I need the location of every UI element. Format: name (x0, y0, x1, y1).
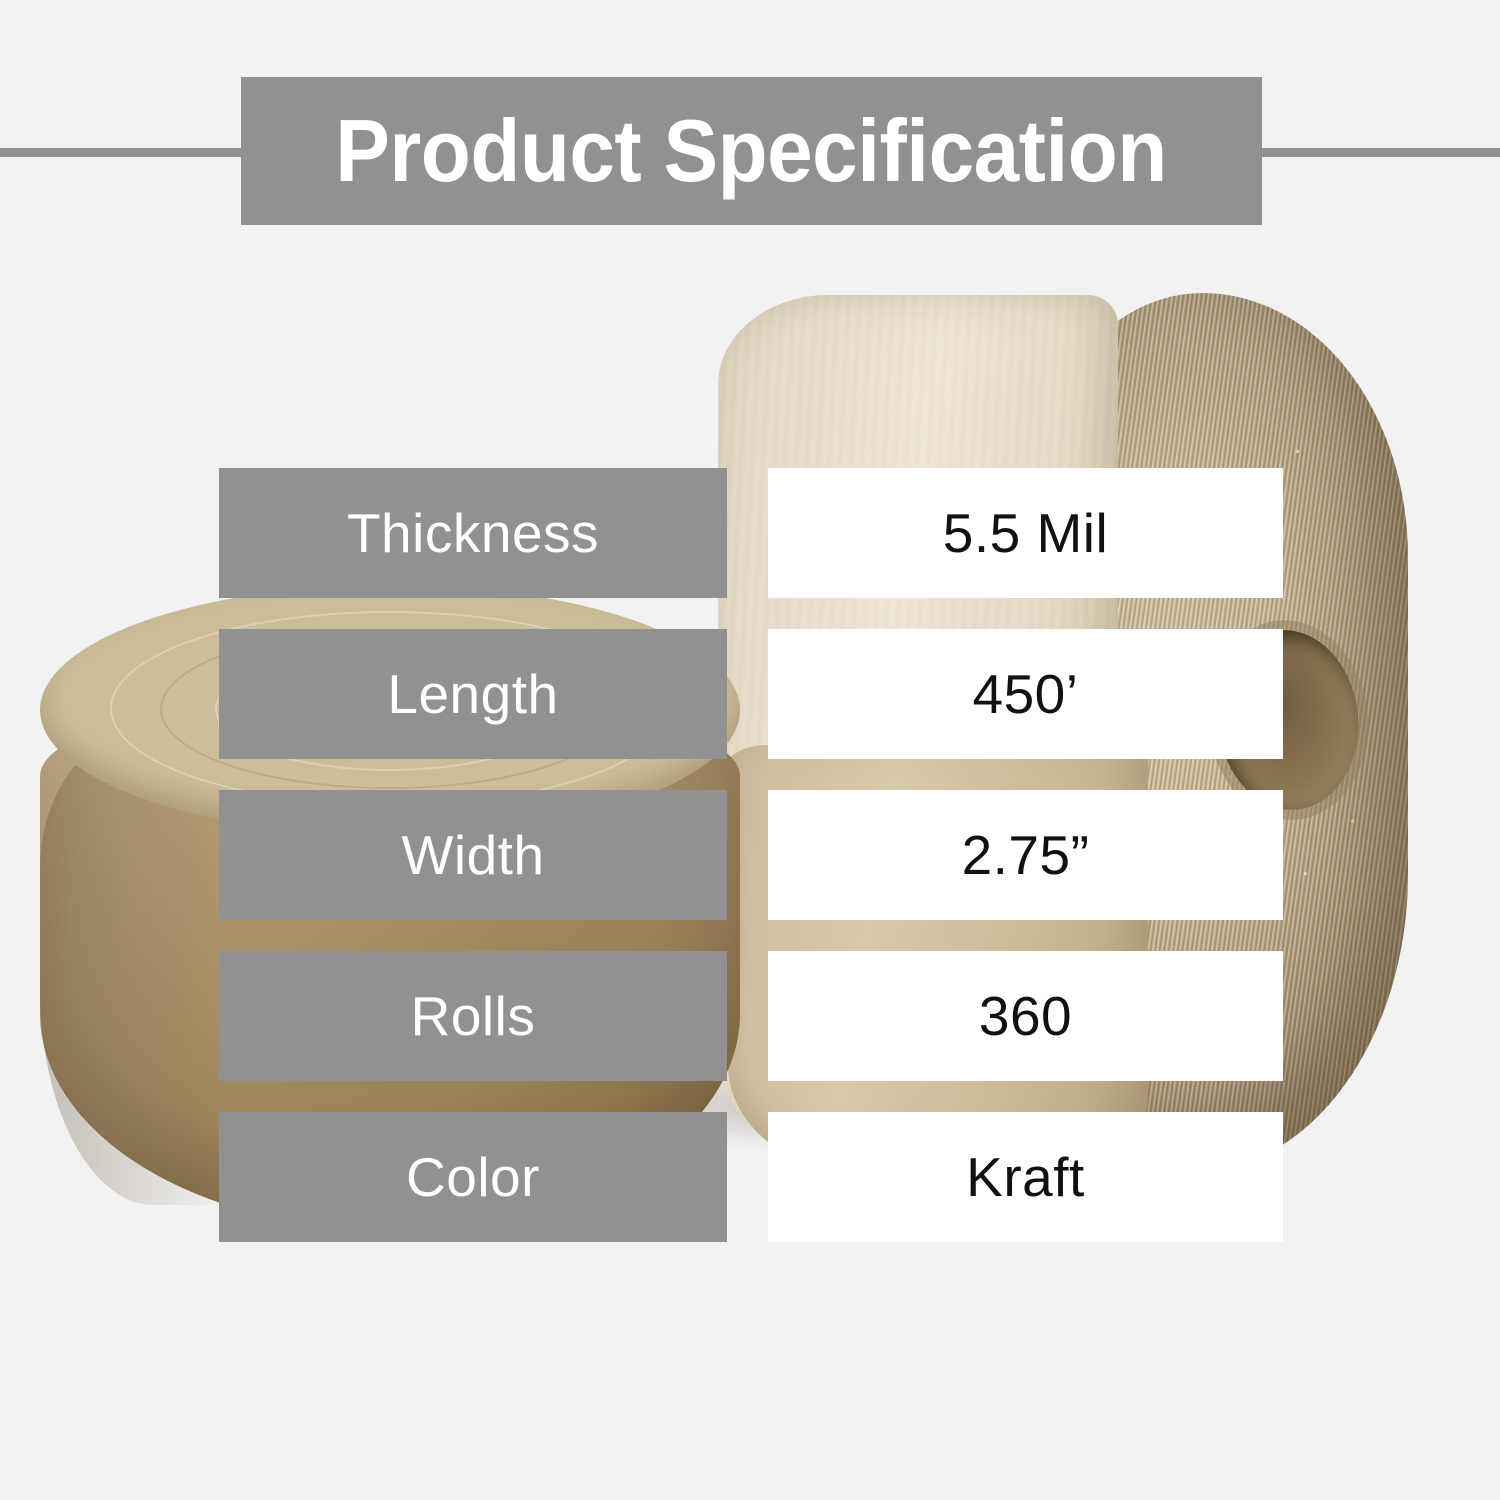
spec-value-rolls: 360 (768, 951, 1283, 1081)
table-row: Rolls 360 (0, 951, 1500, 1081)
table-row: Thickness 5.5 Mil (0, 468, 1500, 598)
infographic-canvas: Product Specification Thickn (0, 0, 1500, 1500)
spec-value-color: Kraft (768, 1112, 1283, 1242)
spec-value-text: Kraft (966, 1150, 1085, 1205)
spec-label-thickness: Thickness (219, 468, 727, 598)
spec-label-length: Length (219, 629, 727, 759)
spec-label-color: Color (219, 1112, 727, 1242)
spec-label-rolls: Rolls (219, 951, 727, 1081)
spec-value-length: 450’ (768, 629, 1283, 759)
spec-table: Thickness 5.5 Mil Length 450’ Width 2.75… (0, 0, 1500, 1500)
spec-value-text: 360 (979, 989, 1072, 1044)
spec-value-text: 450’ (973, 667, 1079, 722)
spec-label-text: Length (387, 667, 558, 722)
spec-label-text: Color (406, 1150, 540, 1205)
table-row: Width 2.75” (0, 790, 1500, 920)
spec-label-text: Width (401, 828, 544, 883)
spec-value-text: 2.75” (962, 828, 1090, 883)
spec-label-text: Rolls (411, 989, 536, 1044)
spec-value-width: 2.75” (768, 790, 1283, 920)
spec-value-text: 5.5 Mil (943, 506, 1109, 561)
table-row: Color Kraft (0, 1112, 1500, 1242)
table-row: Length 450’ (0, 629, 1500, 759)
spec-label-width: Width (219, 790, 727, 920)
spec-label-text: Thickness (347, 506, 599, 561)
spec-value-thickness: 5.5 Mil (768, 468, 1283, 598)
